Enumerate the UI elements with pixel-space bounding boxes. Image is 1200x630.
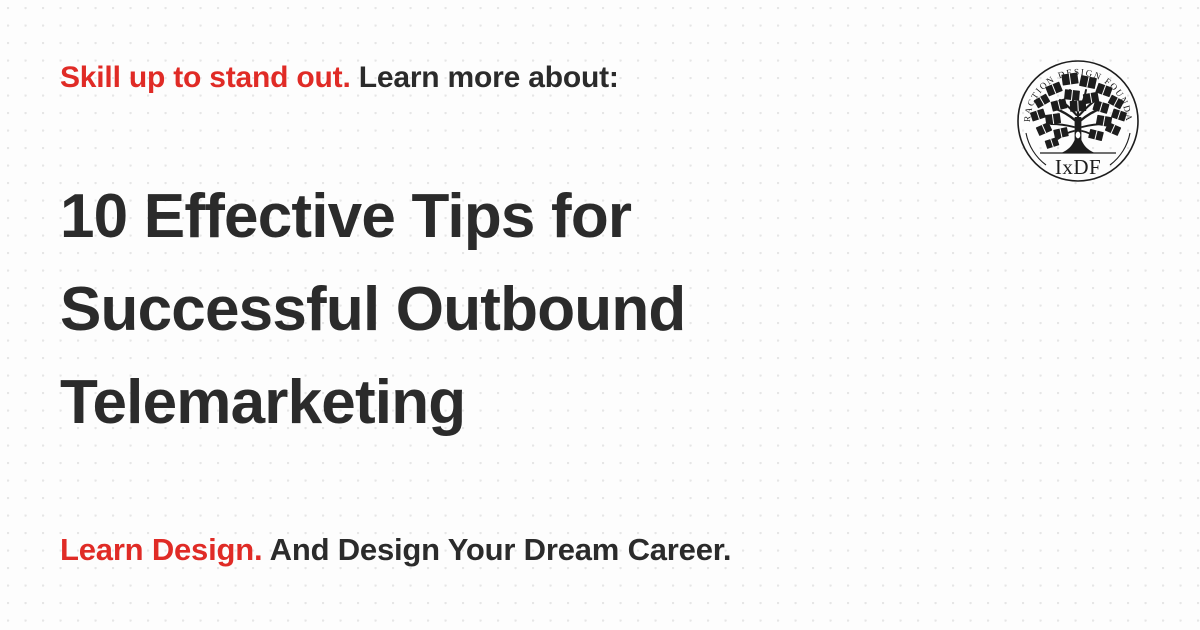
page-title: 10 Effective Tips for Successful Outboun… [60, 170, 960, 449]
tagline-accent-text: Learn Design. [60, 532, 262, 567]
headline-line-3: Telemarketing [60, 356, 960, 449]
headline-line-2: Successful Outbound [60, 263, 960, 356]
kicker-accent-text: Skill up to stand out. [60, 61, 351, 94]
tagline-plain-text: And Design Your Dream Career. [262, 532, 731, 567]
headline-line-1: 10 Effective Tips for [60, 170, 960, 263]
kicker-plain-text: Learn more about: [351, 61, 619, 94]
logo-wordmark: IxDF [1055, 155, 1101, 179]
social-share-card: Skill up to stand out. Learn more about:… [0, 0, 1200, 630]
tagline: Learn Design. And Design Your Dream Care… [60, 529, 731, 571]
kicker-line: Skill up to stand out. Learn more about: [60, 58, 619, 98]
ixdf-logo: INTERACTION DESIGN FOUNDATION [1016, 57, 1140, 185]
